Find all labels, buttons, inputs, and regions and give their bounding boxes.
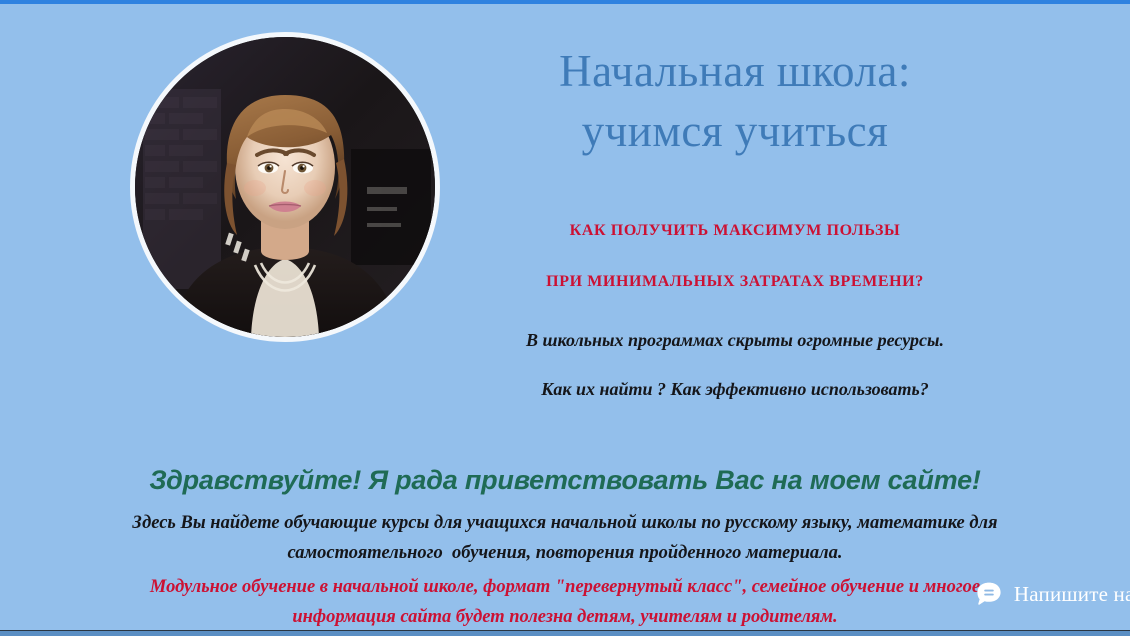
avatar [130, 32, 440, 342]
chat-bubble-icon[interactable] [975, 580, 1003, 608]
lede-block: В школьных программах скрыты огромные ре… [455, 330, 1015, 399]
chat-widget[interactable]: Напишите нам [967, 576, 1130, 612]
kicker-line-2: ПРИ МИНИМАЛЬНЫХ ЗАТРАТАХ ВРЕМЕНИ? [455, 273, 1015, 291]
intro-line-1: Здесь Вы найдете обучающие курсы для уча… [65, 508, 1065, 538]
lede-line-1: В школьных программах скрыты огромные ре… [455, 330, 1015, 351]
highlight-paragraph: Модульное обучение в начальной школе, фо… [65, 572, 1065, 632]
intro-paragraph: Здесь Вы найдете обучающие курсы для уча… [65, 508, 1065, 568]
highlight-line-1: Модульное обучение в начальной школе, фо… [65, 572, 1065, 602]
headline-line-2: учимся учиться [455, 102, 1015, 162]
landing-page: Начальная школа: учимся учиться КАК ПОЛУ… [0, 0, 1130, 636]
intro-line-2: самостоятельного обучения, повторения пр… [65, 538, 1065, 568]
chat-widget-label[interactable]: Напишите нам [1014, 582, 1130, 607]
kicker-block: КАК ПОЛУЧИТЬ МАКСИМУМ ПОЛЬЗЫ ПРИ МИНИМАЛ… [455, 222, 1015, 290]
portrait-photo [135, 37, 435, 337]
greeting-heading: Здравствуйте! Я рада приветствовать Вас … [0, 466, 1130, 496]
welcome-section: Здравствуйте! Я рада приветствовать Вас … [0, 466, 1130, 496]
page-title: Начальная школа: учимся учиться [455, 42, 1015, 162]
kicker-line-1: КАК ПОЛУЧИТЬ МАКСИМУМ ПОЛЬЗЫ [455, 222, 1015, 240]
hero-section: Начальная школа: учимся учиться КАК ПОЛУ… [0, 0, 1130, 430]
highlight-line-2: информация сайта будет полезна детям, уч… [65, 602, 1065, 632]
headline-line-1: Начальная школа: [455, 42, 1015, 102]
lede-line-2: Как их найти ? Как эффективно использова… [455, 379, 1015, 400]
bottom-viewport-edge [0, 630, 1130, 636]
author-portrait [130, 32, 440, 342]
